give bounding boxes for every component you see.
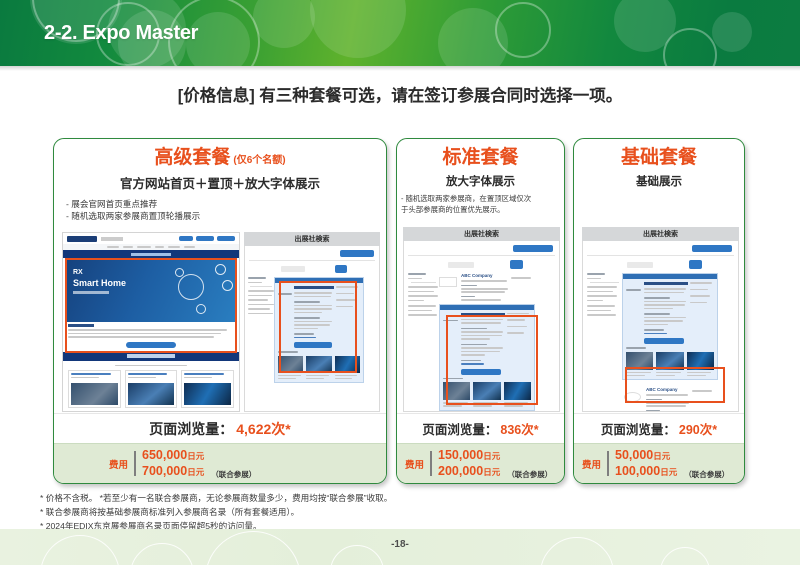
package-card-basic[interactable]: 基础套餐 基础展示 出展社検索 [573,138,745,484]
highlight-box [65,258,237,353]
package-bullet: 于头部参展商的位置优先展示。 [401,205,560,216]
mock-screenshot-search: 出展社検索 [582,227,739,412]
package-title-row: 高级套餐(仅6个名额) [54,148,386,167]
footnote-item: * 价格不含税。 *若至少有一名联合参展商，无论参展商数量多少，费用均按“联合参… [40,492,760,506]
fee-unit: 日元 [483,451,500,461]
fee-unit: 日元 [187,467,204,477]
fee-line-standard: 150,000日元 [438,448,500,464]
pageviews-row: 页面浏览量：836次* [397,413,564,443]
fee-values: 650,000日元 700,000日元 [142,448,204,479]
fee-line-standard: 650,000日元 [142,448,204,464]
price-info-heading: [价格信息] 有三种套餐可选，请在签订参展合同时选择一项。 [0,82,800,106]
slide-root: 2-2. Expo Master [价格信息] 有三种套餐可选，请在签订参展合同… [0,0,800,565]
package-card-standard[interactable]: 标准套餐 放大字体展示 - 随机选取两家参展商，在置顶区域仅次 于头部参展商的位… [396,138,565,484]
pageviews-label: 页面浏览量： [422,419,497,438]
pageviews-label: 页面浏览量： [601,419,676,438]
pageviews-value: 4,622次* [236,419,290,439]
package-subtitle: 放大字体展示 [397,173,564,189]
package-bullets: - 随机选取两家参展商，在置顶区域仅次 于头部参展商的位置优先展示。 [401,194,560,215]
fee-amount: 100,000 [615,464,660,478]
fee-label: 费用 [582,457,601,471]
package-title-row: 标准套餐 [397,148,564,167]
fee-row: 费用 650,000日元 700,000日元 （联合参展） [54,443,386,483]
fee-line-standard: 50,000日元 [615,448,677,464]
fee-values: 50,000日元 100,000日元 [615,448,677,479]
package-title: 基础套餐 [621,147,697,168]
fee-label: 费用 [109,457,128,471]
footer-band: -18- [0,529,800,565]
package-bullet: - 展会官网首页重点推荐 [66,198,386,210]
pageviews-row: 页面浏览量：290次* [574,413,744,443]
pageviews-label: 页面浏览量： [149,419,233,439]
fee-unit: 日元 [660,467,677,477]
fee-divider [607,451,609,476]
package-subtitle: 官方网站首页＋置顶＋放大字体展示 [54,173,386,192]
mock-company-name: ABC Company [461,273,511,278]
fee-unit: 日元 [187,451,204,461]
package-title: 标准套餐 [442,147,518,168]
mock-screenshot-homepage: RX Smart Home [62,232,240,412]
fee-unit: 日元 [653,451,670,461]
banner-shadow [0,66,800,71]
fee-line-joint: 100,000日元 [615,464,677,480]
package-bullets: - 展会官网首页重点推荐 - 随机选取两家参展商置顶轮播展示 [66,198,386,223]
mock-header-label: 出展社検索 [582,227,739,241]
package-title-row: 基础套餐 [574,148,744,167]
mock-screenshot-search: 出展社検索 [403,227,560,412]
package-bullet: - 随机选取两家参展商置顶轮播展示 [66,210,386,222]
pageviews-row: 页面浏览量：4,622次* [54,413,386,443]
fee-row: 费用 50,000日元 100,000日元 （联合参展） [574,443,744,483]
package-bullet: - 随机选取两家参展商，在置顶区域仅次 [401,194,560,205]
highlight-box [446,315,538,405]
fee-divider [430,451,432,476]
fee-joint-note: （联合参展） [507,469,552,480]
package-subtitle: 基础展示 [574,173,744,189]
page-number: -18- [0,539,800,550]
pageviews-value: 290次* [679,419,717,438]
fee-amount: 50,000 [615,448,653,462]
pageviews-value: 836次* [500,419,538,438]
fee-unit: 日元 [483,467,500,477]
fee-line-joint: 200,000日元 [438,464,500,480]
fee-amount: 650,000 [142,448,187,462]
highlight-box [279,281,357,373]
package-title: 高级套餐 [154,147,230,168]
decor-bubble-ring [495,2,551,58]
header-banner: 2-2. Expo Master [0,0,800,66]
fee-joint-note: （联合参展） [684,469,729,480]
page-title: 2-2. Expo Master [44,22,198,45]
decor-bubble [310,0,406,58]
package-card-premium[interactable]: 高级套餐(仅6个名额) 官方网站首页＋置顶＋放大字体展示 - 展会官网首页重点推… [53,138,387,484]
mock-header-label: 出展社検索 [403,227,560,241]
fee-amount: 700,000 [142,464,187,478]
package-title-note: (仅6个名额) [233,155,285,166]
footnote-item: * 联合参展商将按基础参展商标准列入参展商名录（所有套餐适用）。 [40,506,760,520]
fee-joint-note: （联合参展） [211,469,256,480]
fee-divider [134,451,136,476]
decor-bubble [253,0,315,48]
decor-bubble [712,12,752,52]
footnotes: * 价格不含税。 *若至少有一名联合参展商，无论参展商数量多少，费用均按“联合参… [40,492,760,534]
fee-amount: 150,000 [438,448,483,462]
fee-row: 费用 150,000日元 200,000日元 （联合参展） [397,443,564,483]
mock-header-label: 出展社検索 [244,232,380,246]
fee-line-joint: 700,000日元 [142,464,204,480]
fee-values: 150,000日元 200,000日元 [438,448,500,479]
mock-screenshot-search: 出展社検索 [244,232,380,412]
highlight-box [625,367,725,403]
fee-label: 费用 [405,457,424,471]
fee-amount: 200,000 [438,464,483,478]
